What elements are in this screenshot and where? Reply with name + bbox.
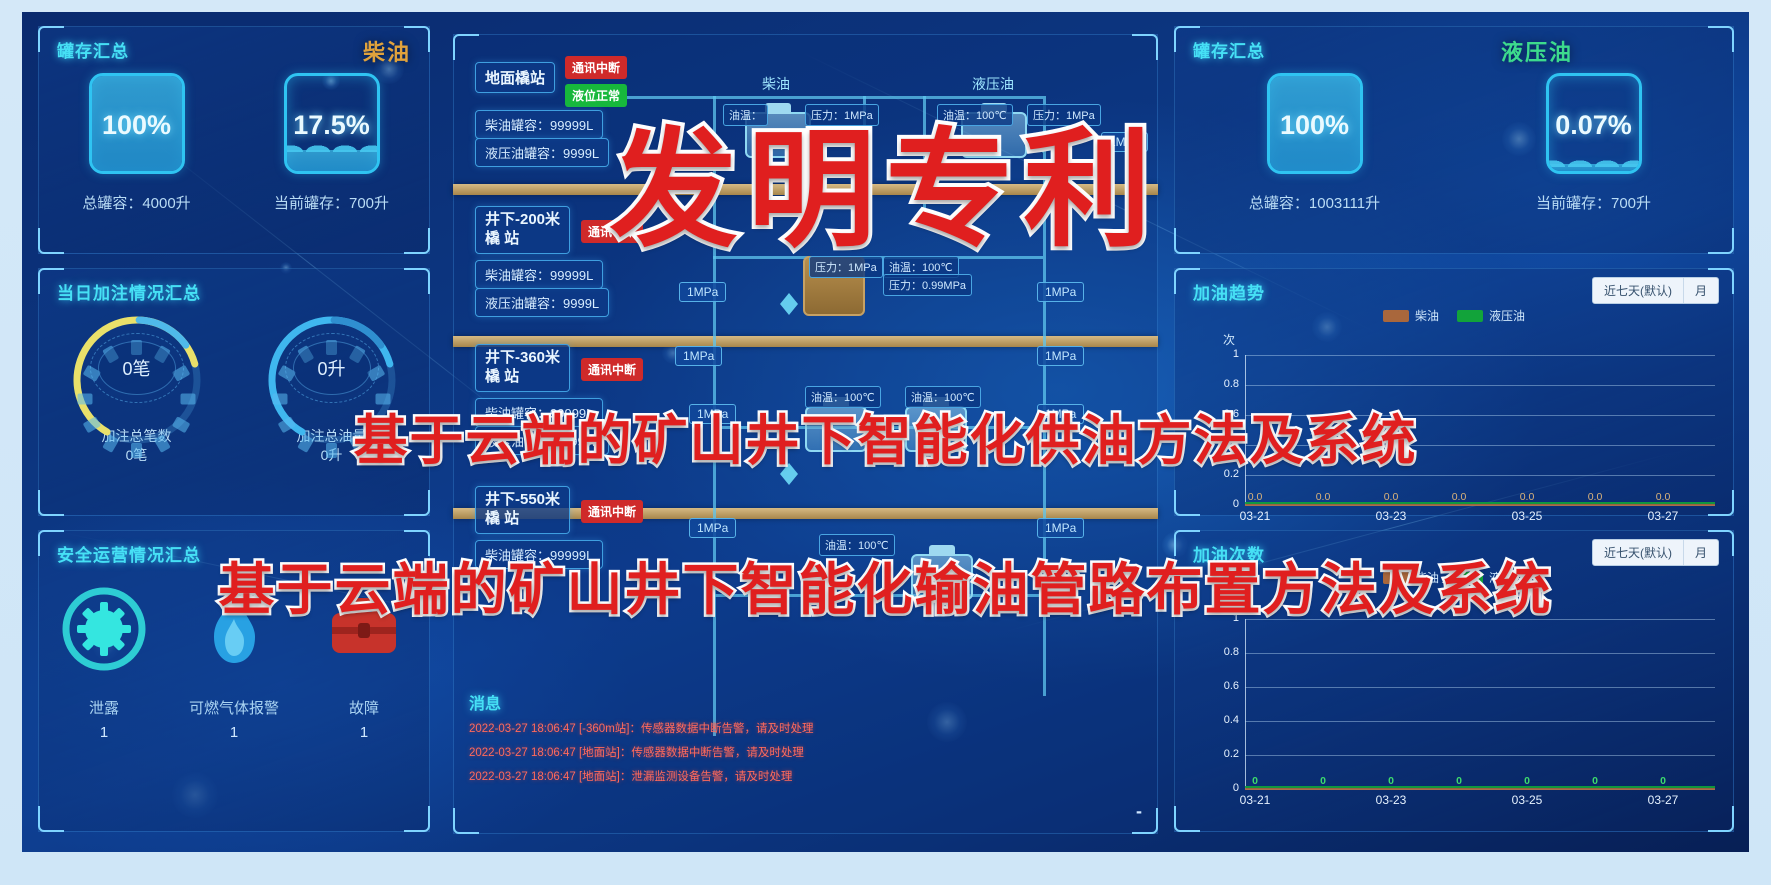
- tank-caption: 总罐容：4000升: [82, 192, 190, 213]
- station-name-line1: 井下-550米: [485, 491, 560, 508]
- station-row: 柴油罐容：99999L: [475, 110, 603, 139]
- legend-swatch-diesel: [1383, 310, 1409, 322]
- x-tick: 03-21: [1227, 509, 1283, 523]
- pressure-tag: 1MPa: [689, 518, 736, 538]
- y-tick: 0.2: [1209, 748, 1239, 760]
- grid-line: [1245, 385, 1715, 386]
- tank-caption: 当前罐存：700升: [1536, 192, 1651, 213]
- grid-line: [1245, 687, 1715, 688]
- series-line-diesel: [1245, 788, 1715, 790]
- data-label: 0: [1513, 775, 1541, 787]
- station-name-line2: 橇 站: [485, 510, 519, 527]
- pressure-tag: 1MPa: [1037, 518, 1084, 538]
- y-tick: 0.6: [1209, 680, 1239, 692]
- x-tick: 03-25: [1499, 509, 1555, 523]
- tank-gauge-current: 17.5%: [284, 73, 380, 174]
- tank-percent: 17.5%: [287, 110, 377, 141]
- range-option-month[interactable]: 月: [1684, 278, 1718, 303]
- data-label: 0.0: [1509, 491, 1545, 503]
- station-name: 井下-360米 橇 站: [475, 344, 570, 392]
- corner-decor: [1708, 806, 1734, 832]
- right-tank-panel: 罐存汇总 液压油 100% 总罐容：1003111升 0.07%: [1174, 26, 1734, 254]
- corner-decor: [38, 806, 64, 832]
- range-option-week[interactable]: 近七天(默认): [1593, 278, 1684, 303]
- safety-item-count: 1: [230, 724, 238, 741]
- series-line-diesel: [1245, 504, 1715, 506]
- y-tick: 0.8: [1209, 646, 1239, 658]
- station-name: 井下-550米 橇 站: [475, 486, 570, 534]
- tank-wave: [1546, 151, 1642, 167]
- corner-decor: [1132, 34, 1158, 60]
- chart-legend: 柴油 液压油: [1175, 307, 1733, 324]
- left-tank-panel: 罐存汇总 柴油 100% 总罐容：4000升 17.5% 当前罐存: [38, 26, 430, 254]
- data-label: 0: [1581, 775, 1609, 787]
- x-tick: 03-23: [1363, 509, 1419, 523]
- y-axis-line: [1245, 619, 1246, 789]
- status-badge-comm: 通讯中断: [581, 500, 643, 523]
- minimize-button[interactable]: -: [1136, 801, 1142, 822]
- range-option-month[interactable]: 月: [1684, 540, 1718, 565]
- legend-item-diesel[interactable]: 柴油: [1383, 307, 1439, 324]
- pressure-tag: 1MPa: [1037, 346, 1084, 366]
- grid-line: [1245, 653, 1715, 654]
- gauge-refuel-count: 0笔: [72, 315, 202, 421]
- grid-line: [1245, 475, 1715, 476]
- panel-title: 当日加注情况汇总: [57, 279, 201, 304]
- tank-gauge-current: 0.07%: [1546, 73, 1642, 174]
- station-name-line2: 橇 站: [485, 230, 519, 247]
- range-toggle-count[interactable]: 近七天(默认) 月: [1592, 539, 1719, 566]
- y-tick: 0.8: [1209, 378, 1239, 390]
- data-label: 0: [1309, 775, 1337, 787]
- data-label: 0: [1377, 775, 1405, 787]
- safety-item-name: 可燃气体报警: [189, 697, 279, 718]
- legend-item-hydraulic[interactable]: 液压油: [1457, 307, 1525, 324]
- station-row: 液压油罐容：9999L: [475, 288, 609, 317]
- panel-subtitle-hydraulic: 液压油: [1501, 35, 1573, 67]
- station-name-line2: 橇 站: [485, 368, 519, 385]
- message-log-title: 消息: [469, 690, 501, 714]
- tank-percent: 100%: [92, 110, 182, 141]
- corner-decor: [38, 228, 64, 254]
- legend-label-hydraulic: 液压油: [1489, 307, 1525, 324]
- data-label: 0.0: [1577, 491, 1613, 503]
- x-tick: 03-27: [1635, 509, 1691, 523]
- corner-decor: [38, 490, 64, 516]
- safety-item-count: 1: [100, 724, 108, 741]
- left-refuel-panel: 当日加注情况汇总: [38, 268, 430, 516]
- x-tick: 03-27: [1635, 793, 1691, 807]
- y-tick: 0.4: [1209, 714, 1239, 726]
- y-tick: 1: [1209, 348, 1239, 360]
- tank-cell: 17.5% 当前罐存：700升: [234, 73, 429, 213]
- station-name: 地面橇站: [475, 62, 555, 93]
- station-name-line1: 井下-360米: [485, 349, 560, 366]
- tank-row: 100% 总罐容：1003111升 0.07% 当前罐存：700升: [1175, 73, 1733, 213]
- log-line: 2022-03-27 18:06:47 [地面站]：泄漏监测设备告警，请及时处理: [469, 768, 792, 784]
- corner-decor: [404, 268, 430, 294]
- corner-decor: [1174, 228, 1200, 254]
- x-tick: 03-25: [1499, 793, 1555, 807]
- data-label: 0: [1649, 775, 1677, 787]
- screenshot-root: 罐存汇总 柴油 100% 总罐容：4000升 17.5% 当前罐存: [0, 0, 1771, 885]
- station-row: 柴油罐容：99999L: [475, 260, 603, 289]
- gauge-cell: 0笔 加注总笔数 0笔: [39, 315, 234, 465]
- data-label: 0: [1445, 775, 1473, 787]
- tank-cell: 100% 总罐容：4000升: [39, 73, 234, 213]
- safety-item-name: 泄露: [89, 697, 119, 718]
- safety-item-name: 故障: [349, 697, 379, 718]
- status-badge-comm: 通讯中断: [565, 56, 627, 79]
- tank-cell: 0.07% 当前罐存：700升: [1454, 73, 1733, 213]
- panel-title: 罐存汇总: [1193, 37, 1265, 62]
- data-label: 0.0: [1441, 491, 1477, 503]
- safety-item[interactable]: 泄露 1: [39, 587, 169, 737]
- pressure-tag: 1MPa: [675, 346, 722, 366]
- tank-fill: [287, 150, 377, 171]
- data-label: 0.0: [1373, 491, 1409, 503]
- tank-cell: 100% 总罐容：1003111升: [1175, 73, 1454, 213]
- tank-percent: 100%: [1270, 110, 1360, 141]
- pressure-tag: 1MPa: [1037, 282, 1084, 302]
- station-name: 井下-200米 橇 站: [475, 206, 570, 254]
- corner-decor: [404, 806, 430, 832]
- tank-row: 100% 总罐容：4000升 17.5% 当前罐存：700升: [39, 73, 429, 213]
- x-tick: 03-23: [1363, 793, 1419, 807]
- log-line: 2022-03-27 18:06:47 [-360m站]：传感器数据中断告警，请…: [469, 720, 813, 736]
- x-tick: 03-21: [1227, 793, 1283, 807]
- panel-title: 加油趋势: [1193, 279, 1265, 304]
- range-toggle-trend[interactable]: 近七天(默认) 月: [1592, 277, 1719, 304]
- data-label: 0.0: [1237, 491, 1273, 503]
- status-badge-comm: 通讯中断: [581, 358, 643, 381]
- corner-decor: [1174, 490, 1200, 516]
- pressure-tag: 1MPa: [679, 282, 726, 302]
- panel-title: 罐存汇总: [57, 37, 129, 62]
- refuel-trend-panel: 加油趋势 近七天(默认) 月 柴油 液压油 次: [1174, 268, 1734, 516]
- data-label: 0.0: [1305, 491, 1341, 503]
- tank-gauge-total: 100%: [1267, 73, 1363, 174]
- corner-decor: [1708, 228, 1734, 254]
- log-line: 2022-03-27 18:06:47 [地面站]：传感器数据中断告警，请及时处…: [469, 744, 804, 760]
- corner-decor: [1174, 806, 1200, 832]
- overlay-line-2: 基于云端的矿山井下智能化输油管路布置方法及系统: [219, 545, 1553, 626]
- grid-line: [1245, 755, 1715, 756]
- tank-gauge-total: 100%: [89, 73, 185, 174]
- vessel-chip: 压力：0.99MPa: [883, 274, 972, 296]
- station-name-line1: 井下-200米: [485, 211, 560, 228]
- grid-line: [1245, 721, 1715, 722]
- overlay-line-1: 基于云端的矿山井下智能化供油方法及系统: [354, 396, 1418, 475]
- data-label: 0.0: [1645, 491, 1681, 503]
- range-option-week[interactable]: 近七天(默认): [1593, 540, 1684, 565]
- overlay-headline: 发明专利: [609, 86, 1161, 271]
- safety-item-count: 1: [360, 724, 368, 741]
- corner-decor: [404, 490, 430, 516]
- legend-swatch-hydraulic: [1457, 310, 1483, 322]
- corner-decor: [1708, 26, 1734, 52]
- tank-percent: 0.07%: [1549, 110, 1639, 141]
- panel-title: 安全运营情况汇总: [57, 541, 201, 566]
- y-axis-unit: 次: [1223, 331, 1235, 348]
- tank-caption: 总罐容：1003111升: [1249, 192, 1380, 213]
- corner-decor: [404, 228, 430, 254]
- data-label: 0: [1241, 775, 1269, 787]
- gear-icon: [61, 587, 147, 671]
- legend-label-diesel: 柴油: [1415, 307, 1439, 324]
- grid-line: [1245, 355, 1715, 356]
- gauge-value: 0笔: [72, 315, 202, 421]
- message-log-panel: 消息 2022-03-27 18:06:47 [-360m站]：传感器数据中断告…: [453, 682, 1158, 834]
- station-row: 液压油罐容：9999L: [475, 138, 609, 167]
- tank-caption: 当前罐存：700升: [274, 192, 389, 213]
- corner-decor: [453, 34, 479, 60]
- panel-subtitle-diesel: 柴油: [363, 35, 411, 67]
